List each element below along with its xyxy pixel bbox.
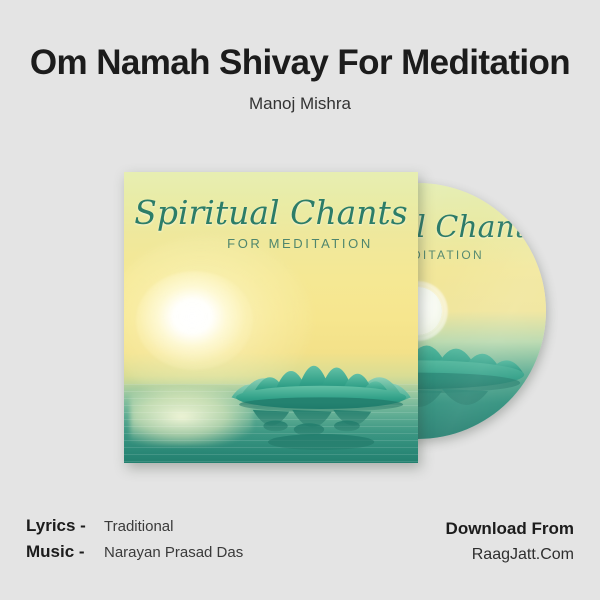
lotus-flower-icon bbox=[230, 326, 412, 460]
artist-name: Manoj Mishra bbox=[0, 84, 600, 114]
credits-footer: Lyrics - Traditional Music - Narayan Pra… bbox=[0, 508, 600, 600]
download-site-link[interactable]: RaagJatt.Com bbox=[446, 542, 574, 568]
song-header: Om Namah Shivay For Meditation Manoj Mis… bbox=[0, 0, 600, 114]
album-artwork: Spiritual Chants FOR MEDITATION bbox=[0, 150, 600, 490]
album-cover: Spiritual Chants FOR MEDITATION bbox=[124, 172, 418, 463]
music-credit-row: Music - Narayan Prasad Das bbox=[26, 542, 243, 568]
music-value: Narayan Prasad Das bbox=[104, 544, 243, 561]
download-from-label: Download From bbox=[446, 516, 574, 542]
credits-block: Lyrics - Traditional Music - Narayan Pra… bbox=[26, 516, 243, 568]
download-block: Download From RaagJatt.Com bbox=[446, 516, 574, 568]
lyrics-value: Traditional bbox=[104, 518, 173, 535]
lyrics-credit-row: Lyrics - Traditional bbox=[26, 516, 243, 542]
lyrics-label: Lyrics - bbox=[26, 516, 104, 536]
page-title: Om Namah Shivay For Meditation bbox=[0, 0, 600, 84]
music-label: Music - bbox=[26, 542, 104, 562]
